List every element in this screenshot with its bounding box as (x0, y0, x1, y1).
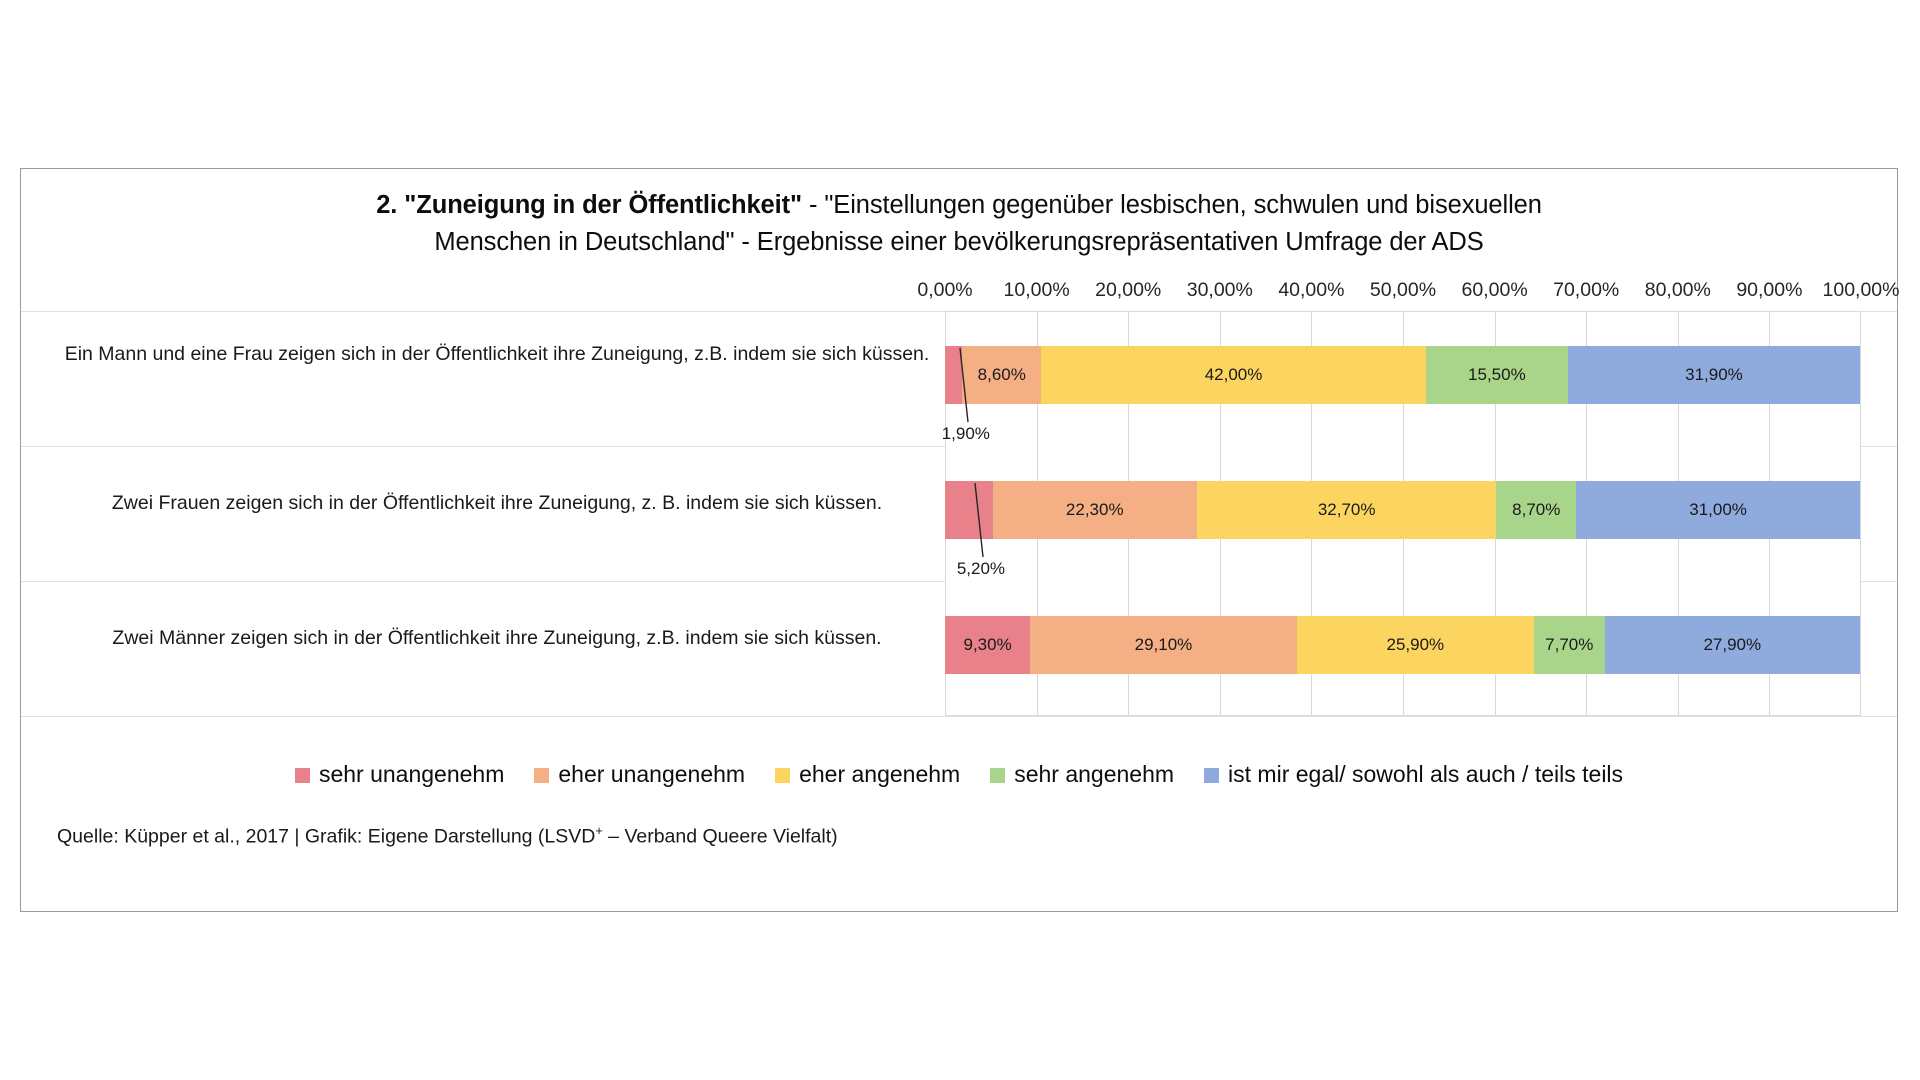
legend-label-0: sehr unangenehm (319, 761, 504, 788)
x-axis-tick-0: 0,00% (917, 279, 972, 302)
callout-label-r0-s0: 1,90% (942, 424, 990, 444)
bar-segment-label: 32,70% (1318, 500, 1376, 520)
bar-segment-label: 15,50% (1468, 365, 1526, 385)
bar-segment-label: 31,90% (1685, 365, 1743, 385)
bar-segment-r0-s3[interactable]: 15,50% (1426, 346, 1568, 404)
source-note-suffix: – Verband Queere Vielfalt) (603, 826, 838, 848)
x-axis-tick-labels: 0,00%10,00%20,00%30,00%40,00%50,00%60,00… (21, 279, 1897, 307)
stacked-bar-row-2: 9,30%29,10%25,90%7,70%27,90% (945, 616, 1861, 674)
x-axis-tick-10: 10,00% (1004, 279, 1070, 302)
legend-item-0[interactable]: sehr unangenehm (295, 761, 504, 788)
category-label-1: Zwei Frauen zeigen sich in der Öffentlic… (57, 490, 937, 517)
row-separator-3 (21, 716, 1897, 717)
source-note-superscript: + (595, 824, 602, 838)
source-note: Quelle: Küpper et al., 2017 | Grafik: Ei… (57, 824, 838, 849)
bar-segment-r0-s2[interactable]: 42,00% (1041, 346, 1426, 404)
x-axis-tick-30: 30,00% (1187, 279, 1253, 302)
x-axis-tick-80: 80,00% (1645, 279, 1711, 302)
bar-segment-r1-s3[interactable]: 8,70% (1496, 481, 1576, 539)
bar-segment-label: 31,00% (1689, 500, 1747, 520)
stacked-bar-row-0: 8,60%42,00%15,50%31,90% (945, 346, 1861, 404)
bar-segment-label: 27,90% (1703, 635, 1761, 655)
legend-swatch-icon-1 (534, 768, 549, 783)
bar-segment-r2-s1[interactable]: 29,10% (1030, 616, 1297, 674)
bar-segment-r2-s3[interactable]: 7,70% (1534, 616, 1605, 674)
legend-item-2[interactable]: eher angenehm (775, 761, 960, 788)
bar-segment-r1-s2[interactable]: 32,70% (1197, 481, 1497, 539)
legend-label-2: eher angenehm (799, 761, 960, 788)
bar-segment-label: 8,70% (1512, 500, 1560, 520)
chart-title-line2: Menschen in Deutschland" - Ergebnisse ei… (434, 228, 1483, 256)
bar-segment-label: 7,70% (1545, 635, 1593, 655)
legend-swatch-icon-4 (1204, 768, 1219, 783)
bar-segment-r0-s4[interactable]: 31,90% (1568, 346, 1860, 404)
x-axis-tick-50: 50,00% (1370, 279, 1436, 302)
bar-segment-label: 42,00% (1205, 365, 1263, 385)
chart-title: 2. "Zuneigung in der Öffentlichkeit" - "… (21, 187, 1897, 261)
x-axis-tick-40: 40,00% (1278, 279, 1344, 302)
bar-segment-r2-s4[interactable]: 27,90% (1605, 616, 1861, 674)
bar-segment-label: 25,90% (1387, 635, 1445, 655)
x-axis-tick-100: 100,00% (1823, 279, 1900, 302)
bar-segment-label: 9,30% (963, 635, 1011, 655)
category-label-2: Zwei Männer zeigen sich in der Öffentlic… (57, 625, 937, 652)
callout-label-r1-s0: 5,20% (957, 559, 1005, 579)
bar-segment-r2-s0[interactable]: 9,30% (945, 616, 1030, 674)
x-axis-tick-70: 70,00% (1553, 279, 1619, 302)
legend-swatch-icon-0 (295, 768, 310, 783)
x-axis-tick-60: 60,00% (1462, 279, 1528, 302)
chart-title-strong: 2. "Zuneigung in der Öffentlichkeit" (376, 191, 802, 219)
category-label-0: Ein Mann und eine Frau zeigen sich in de… (57, 341, 937, 368)
legend-item-3[interactable]: sehr angenehm (990, 761, 1174, 788)
legend-swatch-icon-3 (990, 768, 1005, 783)
bar-segment-label: 29,10% (1135, 635, 1193, 655)
legend-label-3: sehr angenehm (1014, 761, 1174, 788)
chart-container: 2. "Zuneigung in der Öffentlichkeit" - "… (20, 168, 1898, 912)
bar-segment-r2-s2[interactable]: 25,90% (1297, 616, 1534, 674)
x-axis-tick-20: 20,00% (1095, 279, 1161, 302)
legend-item-1[interactable]: eher unangenehm (534, 761, 745, 788)
legend-label-1: eher unangenehm (558, 761, 745, 788)
bar-segment-r1-s4[interactable]: 31,00% (1576, 481, 1860, 539)
source-note-prefix: Quelle: Küpper et al., 2017 | Grafik: Ei… (57, 826, 595, 848)
chart-title-rest: - "Einstellungen gegenüber lesbischen, s… (802, 191, 1542, 219)
legend-item-4[interactable]: ist mir egal/ sowohl als auch / teils te… (1204, 761, 1623, 788)
chart-legend: sehr unangenehmeher unangenehmeher angen… (21, 761, 1897, 788)
legend-swatch-icon-2 (775, 768, 790, 783)
legend-label-4: ist mir egal/ sowohl als auch / teils te… (1228, 761, 1623, 788)
x-axis-tick-90: 90,00% (1736, 279, 1802, 302)
